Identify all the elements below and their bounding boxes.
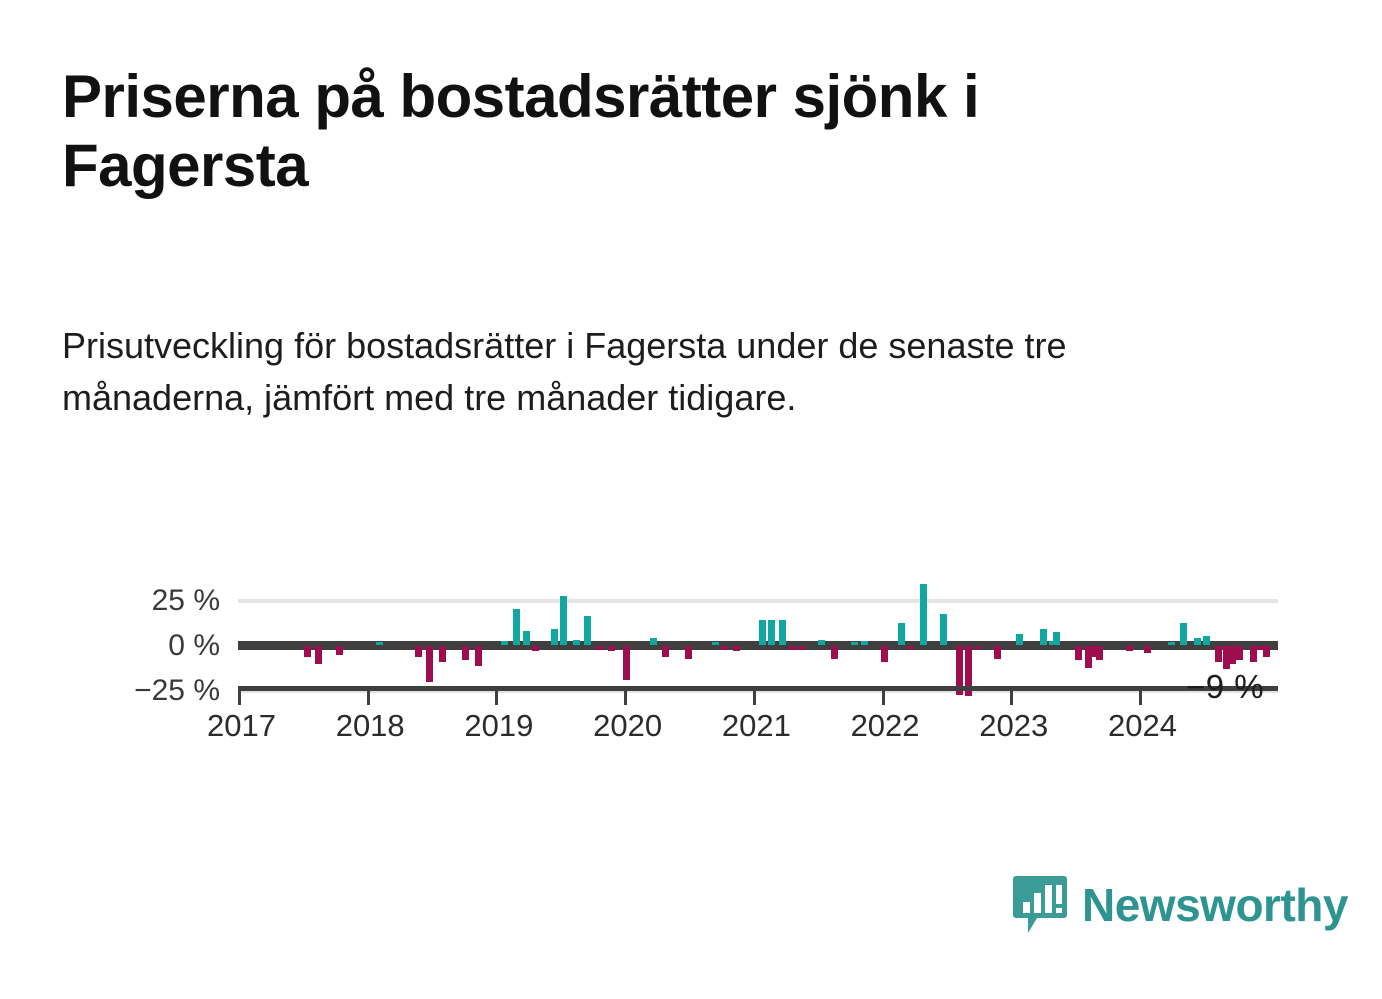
y-axis-labels: 25 % 0 % −25 % xyxy=(100,560,220,700)
bar xyxy=(304,646,311,657)
bar xyxy=(712,642,719,645)
bar xyxy=(623,646,630,680)
plot-area xyxy=(238,560,1278,700)
bar xyxy=(768,620,775,645)
x-axis-tick xyxy=(1139,691,1142,705)
bar xyxy=(1256,646,1263,650)
x-axis-tick xyxy=(1010,691,1013,705)
page-title: Priserna på bostadsrätter sjönk i Fagers… xyxy=(62,62,1192,200)
bar xyxy=(1168,642,1175,645)
bar xyxy=(1040,629,1047,645)
x-axis-tick-label: 2022 xyxy=(851,708,920,744)
bar xyxy=(898,623,905,645)
y-axis-tick-neg-25: −25 % xyxy=(134,674,220,708)
bar xyxy=(1053,632,1060,645)
bar xyxy=(1126,646,1133,651)
bar xyxy=(1203,636,1210,645)
y-axis-tick-0: 0 % xyxy=(168,629,220,663)
x-axis-tick xyxy=(495,691,498,705)
bar xyxy=(596,646,603,650)
bar xyxy=(940,614,947,645)
bar xyxy=(608,646,615,651)
bar xyxy=(532,646,539,651)
bar xyxy=(881,646,888,662)
bar xyxy=(861,641,868,645)
bar xyxy=(1194,638,1201,645)
bar xyxy=(920,584,927,645)
x-axis-tick-label: 2019 xyxy=(464,708,533,744)
last-value-annotation: −9 % xyxy=(1186,668,1264,706)
bar xyxy=(818,640,825,645)
x-axis-tick-label: 2023 xyxy=(979,708,1048,744)
bar xyxy=(1144,646,1151,653)
x-axis-tick-label: 2021 xyxy=(722,708,791,744)
bar xyxy=(685,646,692,659)
bar xyxy=(831,646,838,659)
bar xyxy=(907,646,914,649)
y-axis-tick-25: 25 % xyxy=(152,584,220,618)
bar xyxy=(513,609,520,645)
bar xyxy=(551,629,558,645)
bar xyxy=(584,616,591,645)
bar xyxy=(662,646,669,657)
bar xyxy=(462,646,469,660)
chart-page: Priserna på bostadsrätter sjönk i Fagers… xyxy=(0,0,1382,999)
bar-series xyxy=(238,560,1278,700)
x-axis-tick xyxy=(238,691,241,705)
bar xyxy=(415,646,422,657)
x-axis-tick xyxy=(624,691,627,705)
x-axis-tick-label: 2017 xyxy=(207,708,276,744)
bar xyxy=(501,641,508,645)
bar-chart-speech-bubble-icon xyxy=(1012,874,1068,936)
newsworthy-logo[interactable]: Newsworthy xyxy=(1012,874,1348,936)
bar xyxy=(475,646,482,666)
bar xyxy=(523,631,530,645)
bar xyxy=(975,646,982,649)
bar xyxy=(721,646,728,650)
x-axis-tick xyxy=(753,691,756,705)
bar xyxy=(759,620,766,645)
x-axis-tick-label: 2024 xyxy=(1108,708,1177,744)
bar xyxy=(994,646,1001,659)
bar xyxy=(336,646,343,655)
bar xyxy=(650,638,657,645)
bar xyxy=(1096,646,1103,660)
bar xyxy=(560,596,567,645)
bar xyxy=(1075,646,1082,660)
bar xyxy=(1016,634,1023,645)
logo-wordmark: Newsworthy xyxy=(1082,882,1348,928)
x-axis-tick xyxy=(367,691,370,705)
bar xyxy=(733,646,740,651)
bar xyxy=(426,646,433,682)
x-axis-tick xyxy=(882,691,885,705)
x-axis-tick-label: 2020 xyxy=(593,708,662,744)
bar xyxy=(573,640,580,645)
bar xyxy=(315,646,322,664)
bar xyxy=(1215,646,1222,662)
bar xyxy=(1180,623,1187,645)
bar xyxy=(851,642,858,645)
x-axis: 20172018201920202021202220232024 xyxy=(238,686,1278,756)
bar xyxy=(1263,646,1270,657)
bar xyxy=(1229,646,1236,664)
x-axis-tick-label: 2018 xyxy=(336,708,405,744)
bar xyxy=(779,620,786,645)
bar xyxy=(439,646,446,662)
bar xyxy=(789,646,796,650)
chart-container: 25 % 0 % −25 % 2017201820192020202120222… xyxy=(0,560,1382,770)
bar xyxy=(798,646,805,650)
page-subtitle: Prisutveckling för bostadsrätter i Fager… xyxy=(62,320,1182,424)
bar xyxy=(1236,646,1243,660)
bar xyxy=(376,642,383,645)
x-axis-line xyxy=(238,686,1278,691)
